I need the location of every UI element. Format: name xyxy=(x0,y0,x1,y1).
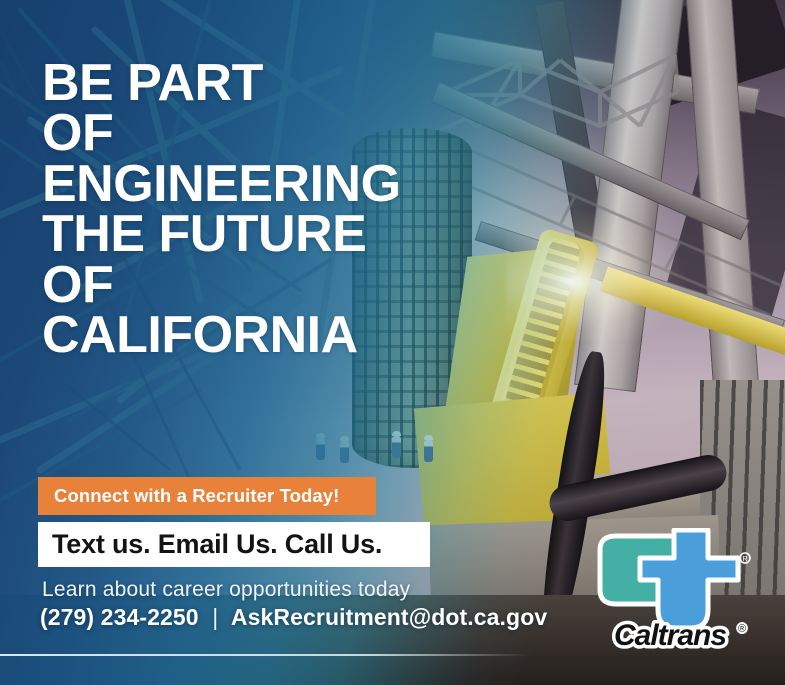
email-address[interactable]: AskRecruitment@dot.ca.gov xyxy=(231,604,547,630)
wordmark-registered-icon: ® xyxy=(738,623,746,635)
recruitment-banner: BE PART OF ENGINEERING THE FUTURE OF CAL… xyxy=(0,0,785,685)
recruiter-cta-banner[interactable]: Connect with a Recruiter Today! xyxy=(38,477,376,515)
caltrans-wordmark-text: Caltrans xyxy=(614,619,726,652)
caltrans-logo[interactable]: R Caltrans Caltrans ® ® xyxy=(588,528,756,653)
caltrans-logo-icon: R Caltrans Caltrans ® ® xyxy=(588,528,756,653)
contact-methods-banner[interactable]: Text us. Email Us. Call Us. xyxy=(38,522,430,567)
registered-mark-letter: R xyxy=(742,556,747,563)
headline-line: THE FUTURE xyxy=(42,209,472,259)
headline-line: ENGINEERING xyxy=(42,159,472,209)
caltrans-wordmark: Caltrans Caltrans ® ® xyxy=(614,619,746,652)
contact-methods-label: Text us. Email Us. Call Us. xyxy=(38,529,382,560)
recruiter-cta-label: Connect with a Recruiter Today! xyxy=(38,485,339,507)
learn-more-text: Learn about career opportunities today xyxy=(42,578,410,602)
page-title: BE PART OF ENGINEERING THE FUTURE OF CAL… xyxy=(42,58,472,361)
headline-line: BE PART xyxy=(42,58,472,108)
contact-separator: | xyxy=(205,604,225,630)
phone-number[interactable]: (279) 234-2250 xyxy=(40,604,199,630)
headline-line: CALIFORNIA xyxy=(42,310,472,360)
contact-line: (279) 234-2250 | AskRecruitment@dot.ca.g… xyxy=(40,604,547,631)
headline-line: OF xyxy=(42,260,472,310)
headline-line: OF xyxy=(42,108,472,158)
divider-rule xyxy=(0,654,530,656)
